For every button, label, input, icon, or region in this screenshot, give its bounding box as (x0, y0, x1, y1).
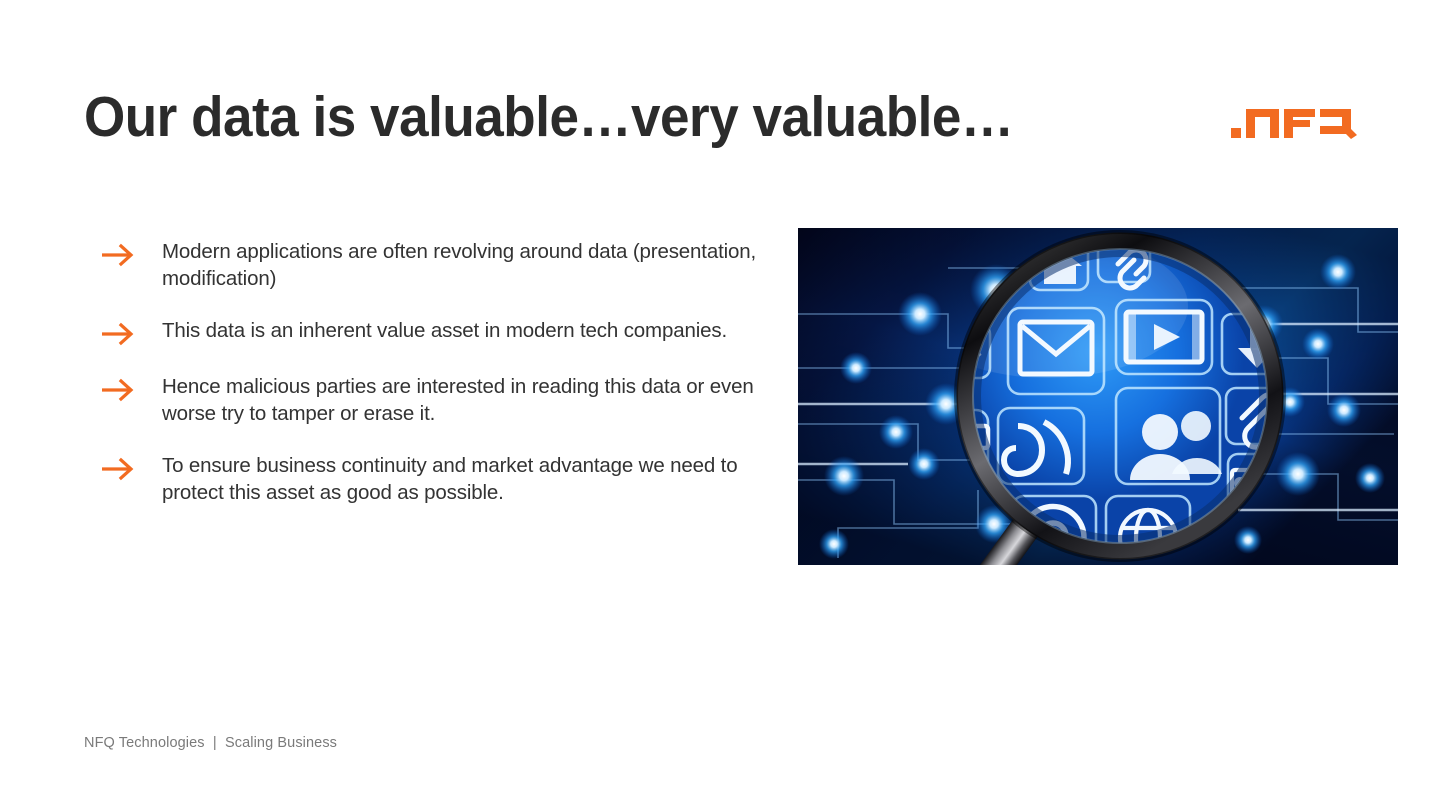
bullet-item: This data is an inherent value asset in … (100, 317, 760, 348)
bullet-item: Modern applications are often revolving … (100, 238, 760, 292)
bullet-item: To ensure business continuity and market… (100, 452, 760, 506)
arrow-right-icon (100, 376, 140, 404)
bullet-text: Hence malicious parties are interested i… (162, 373, 760, 427)
bullet-text: To ensure business continuity and market… (162, 452, 760, 506)
magnifying-glass-over-app-icons-photo (798, 228, 1398, 565)
bullet-text: This data is an inherent value asset in … (162, 317, 760, 344)
arrow-right-icon (100, 320, 140, 348)
footer-text: NFQ Technologies | Scaling Business (84, 733, 337, 753)
arrow-right-icon (100, 455, 140, 483)
page-title: Our data is valuable…very valuable… (84, 84, 1098, 150)
bullet-text: Modern applications are often revolving … (162, 238, 760, 292)
bullet-list: Modern applications are often revolving … (100, 238, 760, 506)
bullet-item: Hence malicious parties are interested i… (100, 373, 760, 427)
slide: Our data is valuable…very valuable… Mode… (0, 0, 1440, 810)
arrow-right-icon (100, 241, 140, 269)
nfq-logo (1231, 99, 1363, 139)
